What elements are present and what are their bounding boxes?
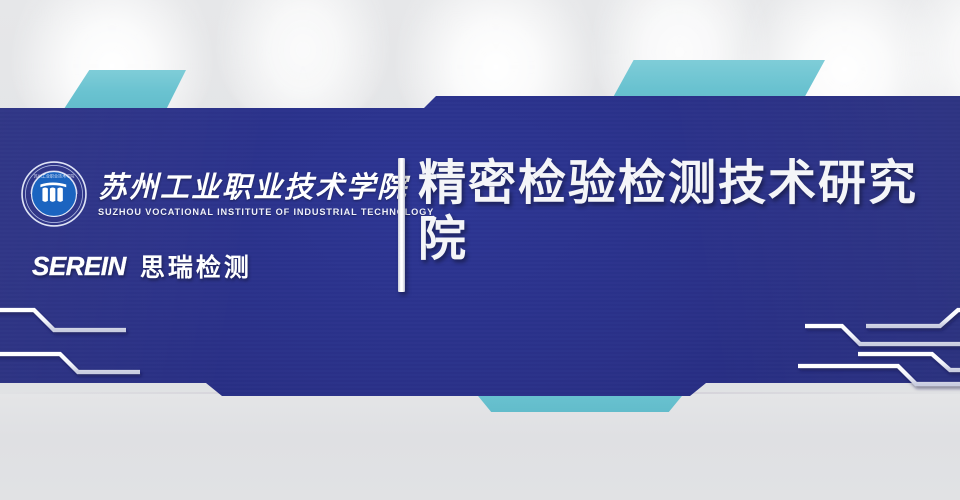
signage-scene: 苏州工业职业技术学院 苏州工业职业技术学院 SUZHOU VOCATIONAL … bbox=[0, 0, 960, 500]
wall-lower-section bbox=[0, 394, 960, 500]
